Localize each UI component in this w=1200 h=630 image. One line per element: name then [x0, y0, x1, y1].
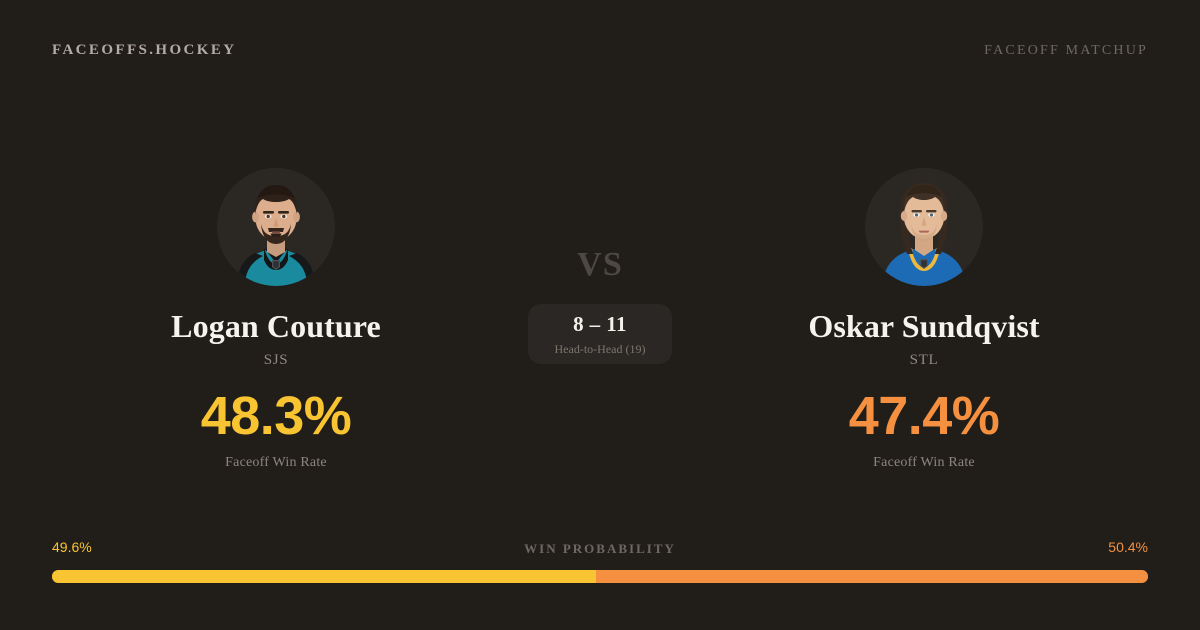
win-probability-title: WIN PROBABILITY: [52, 541, 1148, 557]
win-probability-bar-right-segment: [596, 570, 1148, 583]
site-brand: FACEOFFS.HOCKEY: [52, 42, 236, 59]
head-to-head-score: 8 – 11: [573, 314, 627, 335]
head-to-head-pill: 8 – 11 Head-to-Head (19): [528, 304, 672, 364]
player-card-right[interactable]: Oskar Sundqvist STL 47.4% Faceoff Win Ra…: [714, 168, 1134, 471]
player-faceoff-label-right: Faceoff Win Rate: [873, 455, 975, 471]
win-probability-right-value: 50.4%: [1108, 539, 1148, 555]
player-team-right: STL: [910, 352, 939, 369]
versus-block: VS 8 – 11 Head-to-Head (19): [470, 248, 730, 364]
player-team-left: SJS: [264, 352, 289, 369]
player-card-left[interactable]: Logan Couture SJS 48.3% Faceoff Win Rate: [66, 168, 486, 471]
player-name-right: Oskar Sundqvist: [808, 308, 1039, 345]
player-headshot-left-icon: [217, 168, 335, 286]
versus-label: VS: [577, 248, 623, 282]
player-avatar-left: [217, 168, 335, 286]
win-probability-labels: 49.6% WIN PROBABILITY 50.4%: [52, 539, 1148, 559]
player-faceoff-pct-left: 48.3%: [201, 389, 352, 443]
player-faceoff-pct-right: 47.4%: [849, 389, 1000, 443]
player-avatar-right: [865, 168, 983, 286]
win-probability-section: 49.6% WIN PROBABILITY 50.4%: [52, 539, 1148, 583]
card-section-title: FACEOFF MATCHUP: [984, 43, 1148, 59]
win-probability-bar-left-segment: [52, 570, 596, 583]
player-name-left: Logan Couture: [171, 308, 381, 345]
player-faceoff-label-left: Faceoff Win Rate: [225, 455, 327, 471]
faceoff-matchup-card: FACEOFFS.HOCKEY FACEOFF MATCHUP: [0, 0, 1200, 630]
head-to-head-label: Head-to-Head (19): [555, 343, 646, 355]
win-probability-bar: [52, 570, 1148, 583]
player-headshot-right-icon: [865, 168, 983, 286]
